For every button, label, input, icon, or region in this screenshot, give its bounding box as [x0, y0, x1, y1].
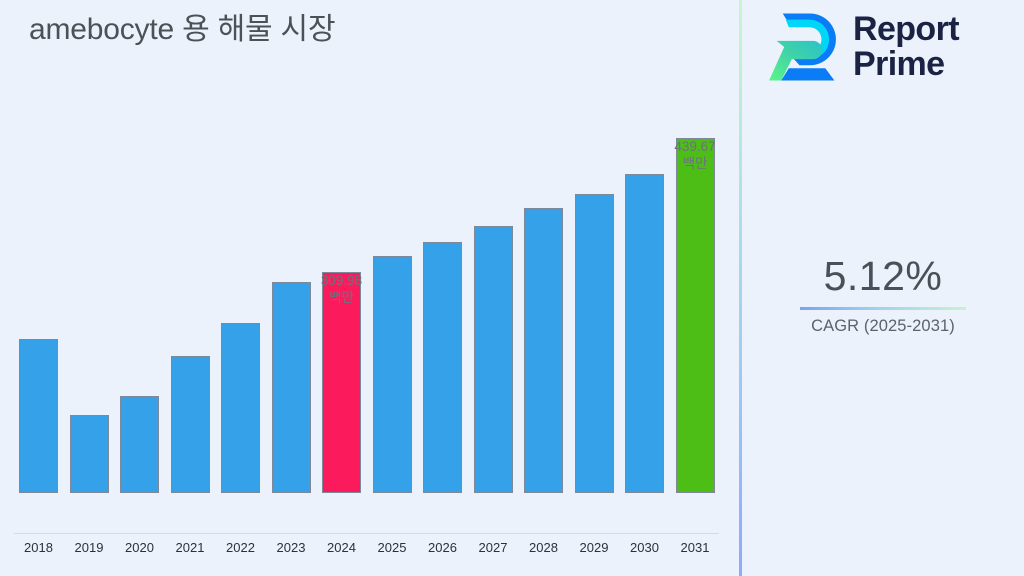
bar-2026 [423, 242, 462, 493]
bar-2018 [19, 339, 58, 493]
brand-name: Report Prime [853, 12, 959, 82]
brand-panel: Report Prime 5.12% CAGR (2025-2031) [742, 0, 1024, 576]
x-axis-line [14, 533, 719, 534]
bar-2020 [120, 396, 159, 493]
bar-2030 [625, 174, 664, 493]
cagr-caption: CAGR (2025-2031) [742, 316, 1024, 337]
bar-2023 [272, 282, 311, 493]
bar-2024 [322, 272, 361, 493]
bar-2031 [676, 138, 715, 493]
brand-name-line2: Prime [853, 45, 945, 83]
bar-2021 [171, 356, 210, 493]
cagr-divider-rule [800, 307, 966, 310]
cagr-block: 5.12% CAGR (2025-2031) [742, 252, 1024, 337]
bar-chart-plot: 309.98 백만439.67 백만 [0, 0, 739, 536]
bar-2029 [575, 194, 614, 493]
infographic-root: amebocyte 용 해물 시장 309.98 백만439.67 백만 201… [0, 0, 1024, 576]
chart-panel: amebocyte 용 해물 시장 309.98 백만439.67 백만 201… [0, 0, 739, 576]
bar-2019 [70, 415, 109, 493]
report-prime-logo-icon [766, 10, 842, 84]
bar-2027 [474, 226, 513, 493]
brand-name-line1: Report [853, 10, 959, 48]
bar-2022 [221, 323, 260, 493]
cagr-value: 5.12% [742, 252, 1024, 300]
bar-2025 [373, 256, 412, 493]
brand-logo: Report Prime [766, 10, 959, 84]
bar-2028 [524, 208, 563, 493]
x-tick-2031: 2031 [665, 540, 725, 555]
